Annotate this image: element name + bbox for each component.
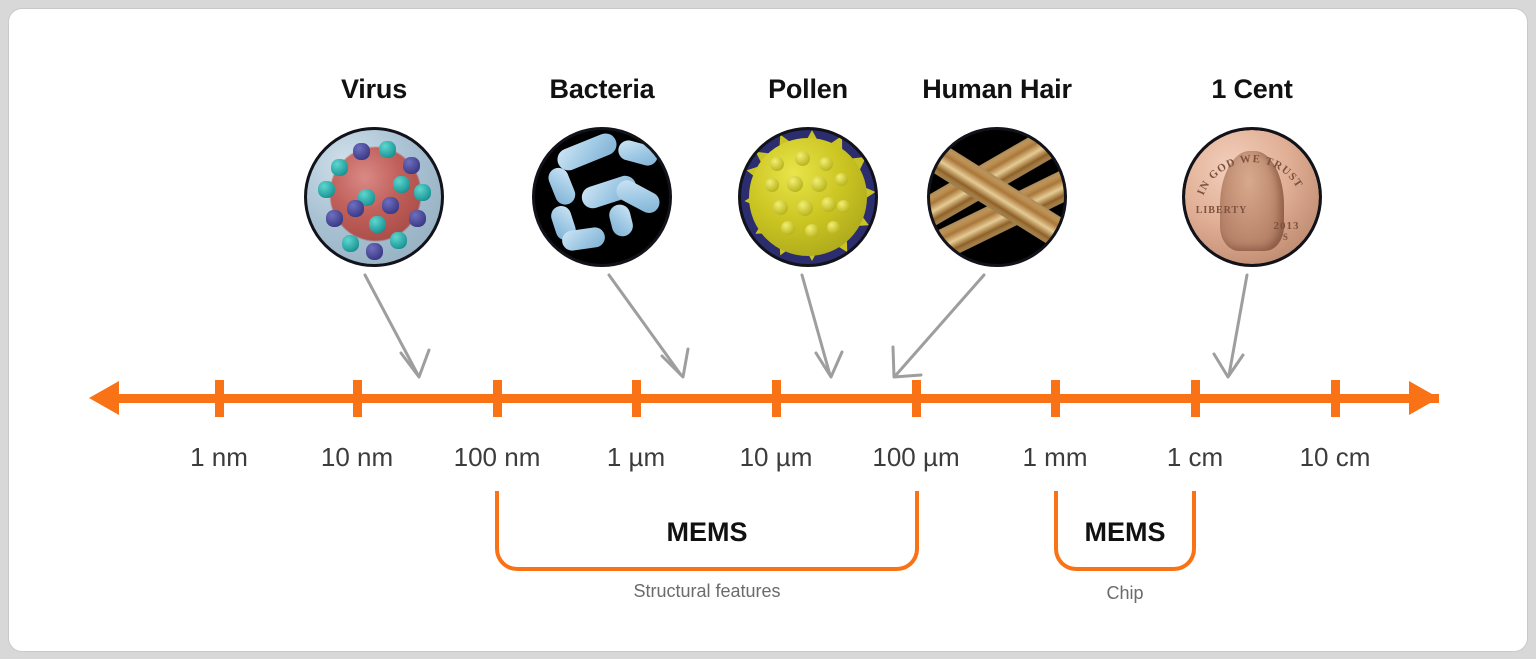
axis-tick-label-10nm: 10 nm [277,442,437,473]
coin-liberty-text: LIBERTY [1196,205,1248,216]
specimen-human-hair: Human Hair [897,74,1097,267]
specimen-label-virus: Virus [274,74,474,105]
specimen-label-one-cent: 1 Cent [1152,74,1352,105]
specimen-pollen: Pollen [708,74,908,267]
bracket-title-mems-chip: MEMS [1044,517,1206,548]
axis-tick-label-1um: 1 µm [556,442,716,473]
axis-tick [772,380,781,417]
specimen-label-bacteria: Bacteria [502,74,702,105]
specimen-bacteria: Bacteria [502,74,702,267]
connector-bacteria [609,275,688,377]
coin-motto-text: IN GOD WE TRUST [1195,153,1305,197]
coin-mint-mark-text: S [1283,232,1289,242]
bracket-caption-structural-features: Structural features [495,581,919,602]
bracket-title-mems-structural: MEMS [495,517,919,548]
coin-year-text: 2013 [1273,220,1299,232]
connector-virus [365,275,429,377]
bracket-caption-chip: Chip [1044,583,1206,604]
axis-tick-label-10um: 10 µm [696,442,856,473]
specimen-label-human-hair: Human Hair [897,74,1097,105]
axis-tick-label-1cm: 1 cm [1115,442,1275,473]
axis-tick-label-1mm: 1 mm [975,442,1135,473]
connector-pollen [802,275,842,377]
axis-tick [493,380,502,417]
hair-micrograph-icon [927,127,1067,267]
axis-tick-label-1nm: 1 nm [139,442,299,473]
axis-tick [1191,380,1200,417]
connector-human-hair [893,275,984,377]
axis-arrow-right-icon [1409,381,1439,415]
infographic-card: Virus [8,8,1528,652]
axis-tick-label-10cm: 10 cm [1255,442,1415,473]
penny-coin-icon: IN GOD WE TRUST LIBERTY 2013 S [1182,127,1322,267]
axis-tick [1331,380,1340,417]
axis-tick [632,380,641,417]
specimen-one-cent: 1 Cent IN GOD WE TRUST LIBERTY 2013 S [1152,74,1352,267]
axis-tick [215,380,224,417]
axis-tick [353,380,362,417]
axis-tick-label-100nm: 100 nm [417,442,577,473]
virus-micrograph-icon [304,127,444,267]
axis-tick-label-100um: 100 µm [836,442,996,473]
bacteria-micrograph-icon [532,127,672,267]
pollen-micrograph-icon [738,127,878,267]
connector-one-cent [1214,275,1247,377]
specimen-virus: Virus [274,74,474,267]
axis-tick [912,380,921,417]
axis-tick [1051,380,1060,417]
axis-arrow-left-icon [89,381,119,415]
specimen-label-pollen: Pollen [708,74,908,105]
svg-text:IN GOD WE TRUST: IN GOD WE TRUST [1195,153,1305,197]
